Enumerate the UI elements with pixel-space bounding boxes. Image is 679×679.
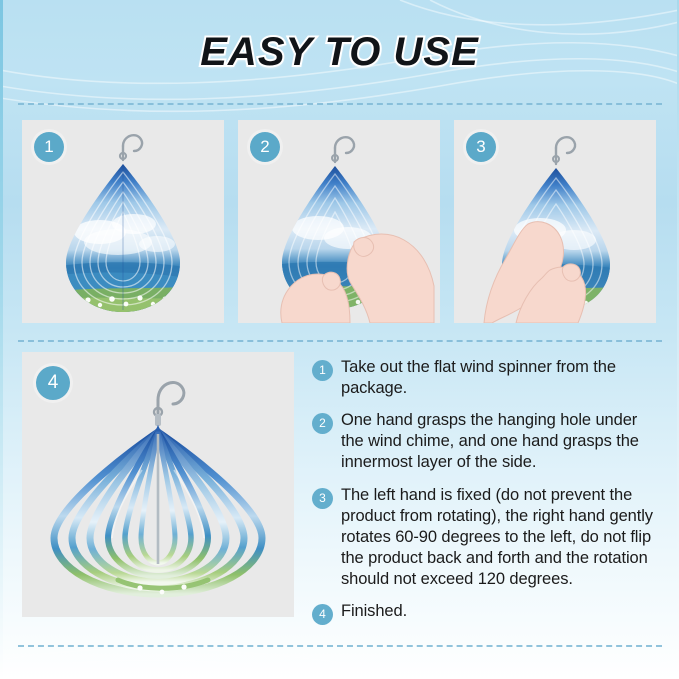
divider-middle xyxy=(18,340,662,342)
panel-badge-2: 2 xyxy=(250,132,280,162)
step-text: The left hand is fixed (do not prevent t… xyxy=(341,485,664,591)
instruction-step: 1 Take out the flat wind spinner from th… xyxy=(312,357,664,399)
left-edge-strip xyxy=(0,0,3,679)
panel-badge-3: 3 xyxy=(466,132,496,162)
step-panel-1: 1 xyxy=(22,120,224,323)
divider-bottom xyxy=(18,645,662,647)
step-number-badge: 4 xyxy=(312,604,333,625)
step-text: One hand grasps the hanging hole under t… xyxy=(341,410,664,473)
panel-badge-4: 4 xyxy=(36,366,70,400)
instruction-steps: 1 Take out the flat wind spinner from th… xyxy=(312,357,664,636)
step-panel-4: 4 xyxy=(22,352,294,617)
step-number-badge: 2 xyxy=(312,413,333,434)
instruction-step: 2 One hand grasps the hanging hole under… xyxy=(312,410,664,473)
step-number-badge: 3 xyxy=(312,488,333,509)
page-title-text: EASY TO USE xyxy=(200,30,479,75)
panel-badge-1: 1 xyxy=(34,132,64,162)
instruction-step: 3 The left hand is fixed (do not prevent… xyxy=(312,485,664,591)
step-panel-3: 3 xyxy=(454,120,656,323)
divider-top xyxy=(18,103,662,105)
step-text: Finished. xyxy=(341,601,407,622)
step-panel-2: 2 xyxy=(238,120,440,323)
instruction-step: 4 Finished. xyxy=(312,601,664,625)
page-title: EASY TO USE xyxy=(0,30,679,75)
step-number-badge: 1 xyxy=(312,360,333,381)
step-text: Take out the flat wind spinner from the … xyxy=(341,357,664,399)
